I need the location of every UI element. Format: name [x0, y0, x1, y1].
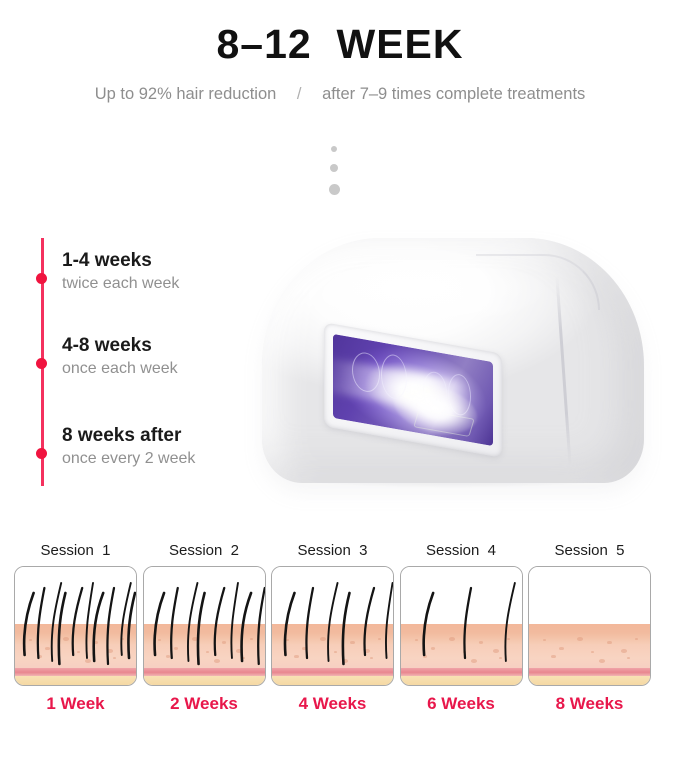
- session-title: Session 1: [14, 540, 137, 562]
- timeline-dot-icon: [36, 273, 47, 284]
- skin-pore: [627, 657, 630, 659]
- hair-strand: [423, 593, 432, 655]
- hair-strand: [258, 588, 265, 664]
- skin-pore: [577, 637, 583, 641]
- page-title: 8–12 WEEK: [0, 20, 680, 68]
- hair-strand: [306, 588, 313, 658]
- timeline-item-title: 1-4 weeks: [62, 248, 179, 273]
- session-panel: Session 11 Week: [14, 540, 137, 730]
- skin-pore: [591, 651, 594, 653]
- skin-pore: [607, 641, 612, 644]
- skin-pore: [543, 639, 546, 641]
- skin-pore: [635, 638, 638, 640]
- skin-illustration: [14, 566, 137, 686]
- dot-small-icon: [331, 146, 337, 152]
- ipl-device-image: [248, 228, 658, 500]
- timeline-item-subtitle: once every 2 week: [62, 448, 195, 470]
- session-title: Session 2: [143, 540, 266, 562]
- hair-strand: [187, 583, 196, 661]
- skin-pore: [621, 649, 627, 653]
- three-dots-icon: [322, 140, 346, 200]
- hair-strand: [107, 588, 114, 664]
- hair-strand: [365, 588, 374, 655]
- subtitle-left: Up to 92% hair reduction: [95, 82, 277, 106]
- hair-strand: [505, 583, 514, 661]
- session-week-label: 1 Week: [14, 692, 137, 716]
- skin-illustration: [528, 566, 651, 686]
- skin-illustration: [271, 566, 394, 686]
- timeline-item-subtitle: twice each week: [62, 273, 179, 295]
- subtitle-right: after 7–9 times complete treatments: [322, 82, 585, 106]
- hair-strand: [343, 593, 350, 664]
- hair-strand: [59, 593, 66, 664]
- hair-strand: [197, 593, 204, 664]
- hair-strand: [38, 588, 45, 658]
- session-title: Session 3: [271, 540, 394, 562]
- session-title: Session 5: [528, 540, 651, 562]
- skin-layer-epidermis: [529, 624, 650, 644]
- timeline-dot-icon: [36, 448, 47, 459]
- skin-pore: [599, 659, 605, 663]
- hair-strand: [285, 593, 294, 655]
- hair-strand: [86, 583, 93, 658]
- session-panel: Session 34 Weeks: [271, 540, 394, 730]
- hair-strand: [386, 583, 393, 658]
- timeline-item-title: 8 weeks after: [62, 423, 195, 448]
- hair-strand: [231, 583, 238, 658]
- skin-pore: [559, 647, 564, 650]
- session-week-label: 6 Weeks: [400, 692, 523, 716]
- header: 8–12 WEEK Up to 92% hair reduction / aft…: [0, 0, 680, 125]
- hair-strand: [154, 593, 163, 655]
- timeline-item-text: 8 weeks after once every 2 week: [62, 423, 195, 470]
- session-week-label: 8 Weeks: [528, 692, 651, 716]
- hair-strand: [214, 588, 223, 655]
- timeline-dot-icon: [36, 358, 47, 369]
- dot-large-icon: [329, 184, 340, 195]
- session-progress-strip: Session 11 WeekSession 22 WeeksSession 3…: [0, 540, 680, 730]
- hair-strand: [128, 593, 135, 658]
- timeline-item-text: 4-8 weeks once each week: [62, 333, 178, 380]
- subtitle-separator: /: [297, 82, 302, 106]
- hair-strand: [171, 588, 178, 658]
- hair-strand: [73, 588, 82, 655]
- skin-illustration: [400, 566, 523, 686]
- hair-group: [401, 567, 523, 686]
- skin-layer-dermis: [529, 644, 650, 669]
- dot-medium-icon: [330, 164, 338, 172]
- session-panel: Session 58 Weeks: [528, 540, 651, 730]
- skin-layer-vessel: [529, 668, 650, 675]
- timeline-item-subtitle: once each week: [62, 358, 178, 380]
- session-panel: Session 22 Weeks: [143, 540, 266, 730]
- hair-group: [144, 567, 266, 686]
- device-seam-top: [476, 254, 600, 310]
- skin-pore: [551, 655, 556, 658]
- device-body: [262, 238, 644, 483]
- hair-strand: [24, 593, 33, 655]
- hair-strand: [464, 588, 471, 658]
- flash-window: [333, 334, 493, 446]
- session-week-label: 2 Weeks: [143, 692, 266, 716]
- session-title: Session 4: [400, 540, 523, 562]
- subtitle: Up to 92% hair reduction / after 7–9 tim…: [0, 82, 680, 106]
- skin-illustration: [143, 566, 266, 686]
- hair-group: [272, 567, 394, 686]
- session-week-label: 4 Weeks: [271, 692, 394, 716]
- hair-strand: [94, 593, 103, 661]
- timeline-item-title: 4-8 weeks: [62, 333, 178, 358]
- skin-layer-air: [529, 567, 650, 624]
- hair-strand: [328, 583, 337, 661]
- hair-strand: [241, 593, 250, 661]
- hair-group: [15, 567, 137, 686]
- skin-layer-fat: [529, 676, 650, 685]
- flash-window-bezel: [324, 322, 502, 457]
- session-panel: Session 46 Weeks: [400, 540, 523, 730]
- timeline-item-text: 1-4 weeks twice each week: [62, 248, 179, 295]
